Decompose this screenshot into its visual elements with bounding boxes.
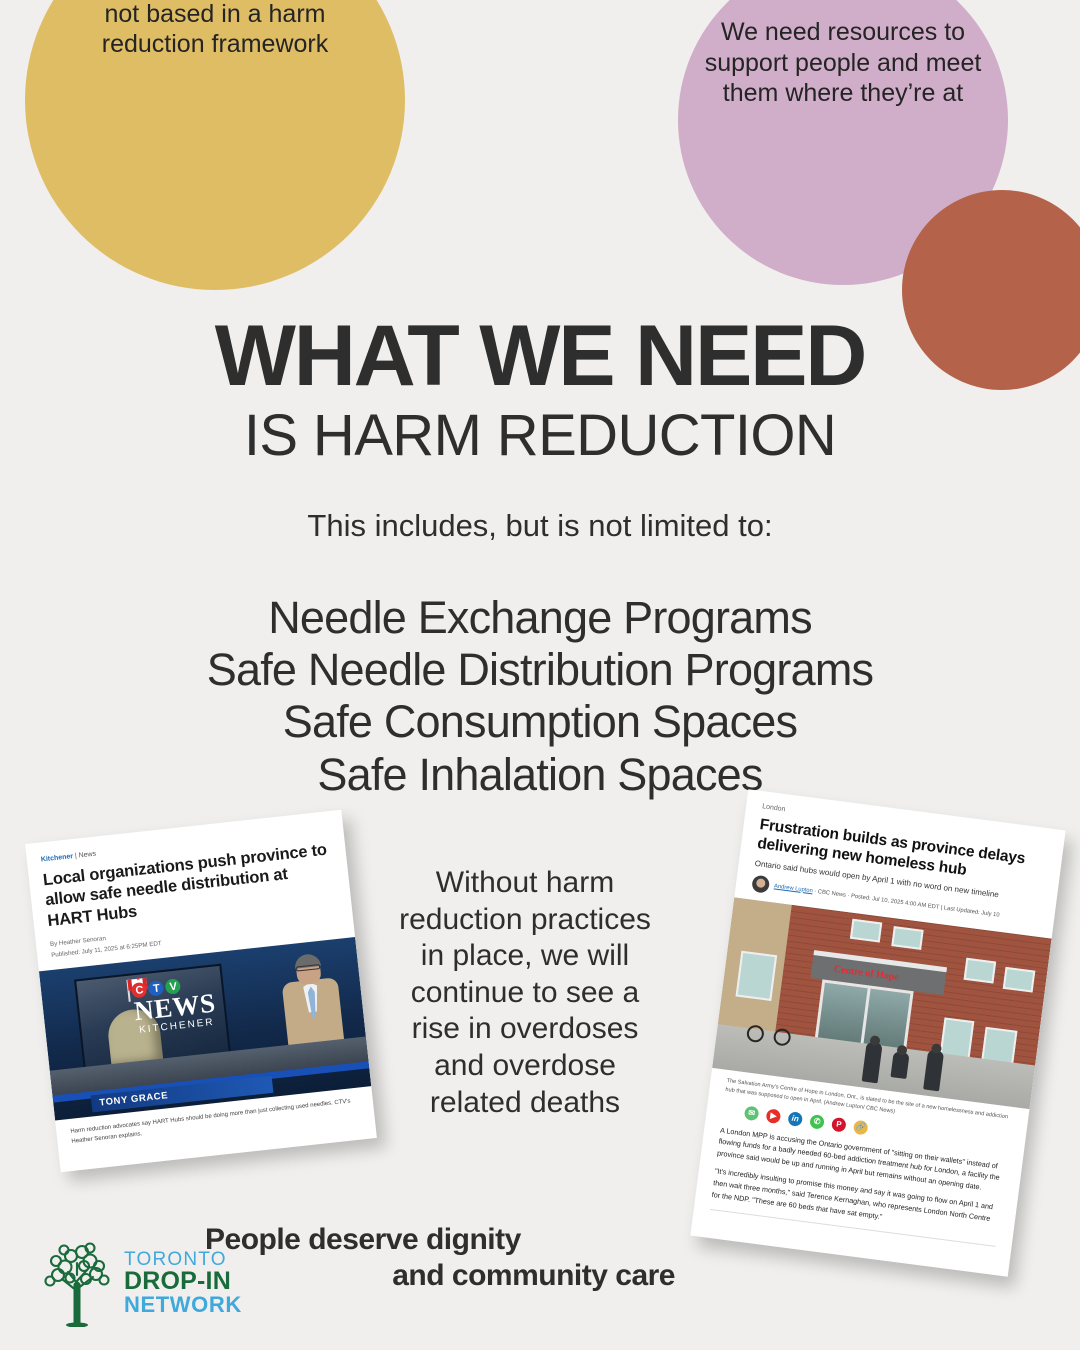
includes-intro-line: This includes, but is not limited to: — [0, 508, 1080, 544]
window — [850, 919, 882, 943]
tree-icon — [38, 1239, 116, 1327]
closing-tagline: People deserve dignity and community car… — [205, 1222, 675, 1294]
clipping-author-link[interactable]: Andrew Lupton — [774, 883, 813, 894]
gold-quote-circle: The HART HUB MODEL is not based in a har… — [25, 0, 405, 290]
gold-circle-text-rest: is not based in a harm reduction framewo… — [102, 0, 367, 58]
services-list: Needle Exchange Programs Safe Needle Dis… — [0, 592, 1080, 801]
email-icon[interactable]: ✉ — [744, 1105, 760, 1121]
tagline-line-1: People deserve dignity — [205, 1223, 521, 1256]
window — [964, 958, 997, 984]
headline-block: WHAT WE NEED IS HARM REDUCTION — [0, 315, 1080, 466]
organization-logo: TORONTO DROP-IN NETWORK — [38, 1238, 233, 1328]
clipping-kicker-section: News — [78, 851, 96, 860]
list-item: Safe Inhalation Spaces — [0, 749, 1080, 801]
ctv-news-logo: C T V NEWS KITCHENER — [131, 975, 218, 1036]
list-item: Needle Exchange Programs — [0, 592, 1080, 644]
building-sign: Centre of Hope — [833, 964, 899, 983]
logo-wordmark: TORONTO DROP-IN NETWORK — [124, 1250, 242, 1316]
window — [736, 951, 778, 1001]
article-photo: Centre of Hope — [712, 898, 1051, 1110]
avatar — [751, 875, 770, 894]
broadcast-screenshot: C T V NEWS KITCHENER TONY GRACE — [39, 937, 371, 1120]
copy-link-icon[interactable]: 🔗 — [853, 1119, 869, 1135]
logo-word-network: NETWORK — [124, 1294, 242, 1316]
clipping-kicker-location: Kitchener — [41, 853, 74, 863]
linkedin-icon[interactable]: in — [787, 1111, 803, 1127]
news-clipping-cbc: London Frustration builds as province de… — [690, 789, 1065, 1276]
x-icon[interactable]: 𝕏 — [722, 1102, 738, 1118]
whatsapp-icon[interactable]: ✆ — [809, 1114, 825, 1130]
tagline-line-2: and community care — [205, 1258, 675, 1294]
youtube-icon[interactable]: ▶ — [766, 1108, 782, 1124]
logo-word-dropin: DROP-IN — [124, 1269, 242, 1294]
gold-circle-text: The HART HUB MODEL is not based in a har… — [25, 0, 405, 60]
person-figure — [890, 1051, 909, 1079]
pinterest-icon[interactable]: P — [831, 1116, 847, 1132]
page-title: WHAT WE NEED — [0, 315, 1080, 398]
window — [891, 926, 923, 950]
list-item: Safe Consumption Spaces — [0, 696, 1080, 748]
window — [1003, 967, 1036, 993]
page-subtitle: IS HARM REDUCTION — [0, 406, 1080, 467]
list-item: Safe Needle Distribution Programs — [0, 644, 1080, 696]
warning-paragraph: Without harm reduction practices in plac… — [390, 865, 660, 1121]
pink-circle-text: We need resources to support people and … — [678, 17, 1008, 109]
news-clipping-ctv: Kitchener | News Local organizations pus… — [25, 810, 377, 1172]
